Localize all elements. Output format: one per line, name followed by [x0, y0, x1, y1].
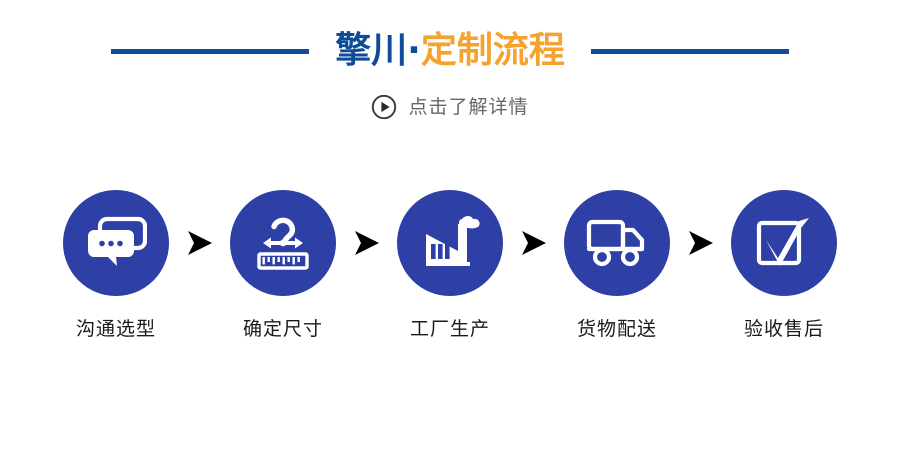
play-circle-icon[interactable] — [371, 94, 397, 120]
step-label-3: 工厂生产 — [410, 320, 490, 339]
step-label-5: 验收售后 — [744, 320, 824, 339]
step-item-1[interactable]: 沟通选型 — [63, 190, 169, 339]
title-row: 擎川·定制流程 — [0, 20, 900, 82]
arrow-right-icon — [186, 230, 214, 256]
subtitle-row[interactable]: 点击了解详情 — [0, 90, 900, 124]
checkbox-check-icon — [754, 214, 814, 272]
step-circle-2[interactable] — [230, 190, 336, 296]
subtitle-label: 点击了解详情 — [408, 98, 528, 117]
page-title: 擎川·定制流程 — [335, 33, 565, 69]
ruler-measure-icon — [251, 212, 315, 274]
chat-bubbles-icon — [85, 214, 147, 272]
arrow-right-icon — [520, 230, 548, 256]
step-circle-3[interactable] — [397, 190, 503, 296]
step-label-1: 沟通选型 — [76, 320, 156, 339]
step-item-2[interactable]: 确定尺寸 — [230, 190, 336, 339]
page-title-orange-part: 定制流程 — [421, 30, 565, 71]
arrow-right-icon — [687, 230, 715, 256]
step-item-4[interactable]: 货物配送 — [564, 190, 670, 339]
step-item-3[interactable]: 工厂生产 — [397, 190, 503, 339]
title-rule-left — [111, 49, 309, 54]
process-steps: 沟通选型 — [0, 190, 900, 365]
header-banner: 擎川·定制流程 点击了解详情 — [0, 0, 900, 140]
step-arrow-2 — [336, 190, 397, 296]
arrow-right-icon — [353, 230, 381, 256]
title-rule-right — [591, 49, 789, 54]
step-arrow-4 — [670, 190, 731, 296]
step-circle-4[interactable] — [564, 190, 670, 296]
step-label-2: 确定尺寸 — [243, 320, 323, 339]
delivery-truck-icon — [585, 217, 649, 269]
step-circle-5[interactable] — [731, 190, 837, 296]
page-title-blue-part: 擎川· — [335, 30, 421, 71]
step-arrow-1 — [169, 190, 230, 296]
step-label-4: 货物配送 — [577, 320, 657, 339]
step-circle-1[interactable] — [63, 190, 169, 296]
step-item-5[interactable]: 验收售后 — [731, 190, 837, 339]
factory-icon — [418, 213, 482, 273]
step-arrow-3 — [503, 190, 564, 296]
